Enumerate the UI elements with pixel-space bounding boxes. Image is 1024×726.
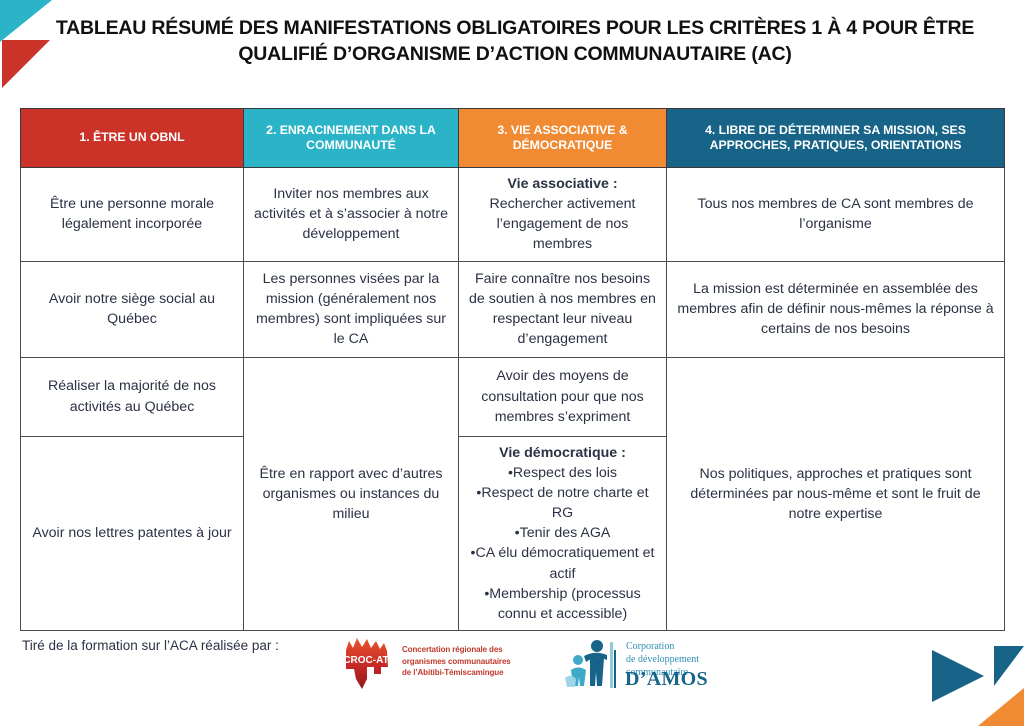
svg-text:CROC-AT: CROC-AT [343,655,388,666]
table-row: Réaliser la majorité de nos activités au… [21,357,1005,436]
cell-r3-c2-merged: Être en rapport avec d’autres organismes… [244,357,459,630]
list-item: •Respect des lois [467,463,658,483]
damos-people-icon [562,636,620,690]
damos-brand-text: D’AMOS [625,668,708,691]
cell-r2-c2: Les personnes visées par la mission (gén… [244,261,459,357]
list-item: •Membership (processus connu et accessib… [467,584,658,624]
column-header-libre-mission: 4. LIBRE DE DÉTERMINER SA MISSION, SES A… [667,109,1005,168]
cell-r1-c3-body: Rechercher activement l’engagement de no… [490,196,636,252]
damos-upper-line-1: Corporation [626,640,699,653]
table-header-row: 1. ÊTRE UN OBNL 2. ENRACINEMENT DANS LA … [21,109,1005,168]
crocat-tagline-line-3: de l’Abitibi-Témiscamingue [402,667,511,679]
crocat-logo: CROC-AT Concertation régionale des organ… [340,632,540,694]
cell-r1-c3-lead: Vie associative : [467,174,658,194]
cell-r1-c1: Être une personne morale légalement inco… [21,168,244,262]
cell-r1-c4: Tous nos membres de CA sont membres de l… [667,168,1005,262]
cell-r1-c3: Vie associative : Rechercher activement … [459,168,667,262]
footer: Tiré de la formation sur l’ACA réalisée … [22,630,1002,710]
column-header-enracinement: 2. ENRACINEMENT DANS LA COMMUNAUTÉ [244,109,459,168]
crocat-tagline-line-2: organismes communautaires [402,656,511,668]
criteria-summary-table: 1. ÊTRE UN OBNL 2. ENRACINEMENT DANS LA … [20,108,1005,631]
column-header-obnl: 1. ÊTRE UN OBNL [21,109,244,168]
crocat-tagline-line-1: Concertation régionale des [402,644,511,656]
cell-r3-c4-merged: Nos politiques, approches et pratiques s… [667,357,1005,630]
column-header-vie-associative: 3. VIE ASSOCIATIVE & DÉMOCRATIQUE [459,109,667,168]
cell-r3-c1: Réaliser la majorité de nos activités au… [21,357,244,436]
table-row: Avoir notre siège social au Québec Les p… [21,261,1005,357]
table-row: Être une personne morale légalement inco… [21,168,1005,262]
list-item: •Tenir des AGA [467,523,658,543]
cdc-damos-logo: Corporation de développement communautai… [562,634,742,694]
cell-r2-c1: Avoir notre siège social au Québec [21,261,244,357]
cell-r2-c4: La mission est déterminée en assemblée d… [667,261,1005,357]
cell-r4-c3: Vie démocratique : •Respect des lois •Re… [459,436,667,630]
cell-r1-c2: Inviter nos membres aux activités et à s… [244,168,459,262]
cell-r3-c3: Avoir des moyens de consultation pour qu… [459,357,667,436]
list-item: •CA élu démocratiquement et actif [467,543,658,583]
cell-r4-c3-lead: Vie démocratique : [467,443,658,463]
page-title: TABLEAU RÉSUMÉ DES MANIFESTATIONS OBLIGA… [40,16,990,67]
cell-r4-c3-bullet-list: •Respect des lois •Respect de notre char… [467,463,658,624]
footer-credit-text: Tiré de la formation sur l’ACA réalisée … [22,638,279,653]
crocat-tagline: Concertation régionale des organismes co… [402,644,511,679]
damos-upper-line-2: de développement [626,653,699,666]
crocat-flame-icon: CROC-AT [340,636,396,690]
cell-r4-c1: Avoir nos lettres patentes à jour [21,436,244,630]
list-item: •Respect de notre charte et RG [467,483,658,523]
cell-r2-c3: Faire connaître nos besoins de soutien à… [459,261,667,357]
